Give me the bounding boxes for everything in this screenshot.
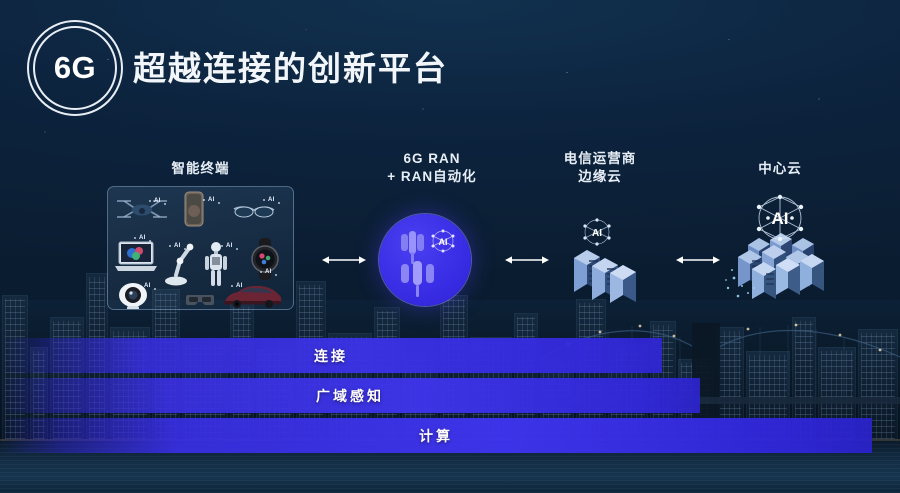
core-ai-badge-text: AI: [772, 209, 789, 228]
device-ar-glasses-icon: [232, 203, 276, 226]
page-title: 超越连接的创新平台: [133, 42, 448, 90]
column-label-core: 中心云: [710, 160, 850, 178]
core-cloud-node: AI: [718, 192, 846, 314]
capability-bar-connectivity: 连接: [0, 338, 662, 373]
smart-devices-panel: AI AI AI: [107, 186, 294, 310]
device-ai-tag: AI: [265, 269, 272, 275]
ran-node-circle: AI: [379, 214, 471, 306]
logo-text: 6G: [27, 20, 123, 116]
brand-logo: 6G: [27, 20, 123, 116]
device-ai-tag: AI: [268, 197, 275, 203]
column-label-ran-line1: 6G RAN: [352, 150, 512, 168]
device-smartwatch-icon: [248, 237, 282, 286]
capability-bar-label: 连接: [314, 346, 348, 366]
column-label-ran-line2: + RAN自动化: [352, 168, 512, 186]
device-smartphone-icon: [184, 191, 204, 232]
column-label-edge-line1: 电信运营商: [525, 150, 675, 168]
device-ai-tag: AI: [154, 198, 161, 204]
connector-edge-to-core: [676, 254, 720, 266]
edge-cloud-node: AI: [558, 216, 656, 308]
capability-bar-computing: 计算: [0, 418, 872, 453]
edge-ai-badge-text: AI: [592, 228, 602, 239]
column-label-devices: 智能终端: [118, 160, 283, 178]
slide-canvas: 6G 超越连接的创新平台 智能终端 6G RAN + RAN自动化 电信运营商 …: [0, 0, 900, 493]
ran-ai-badge-text: AI: [439, 237, 448, 247]
device-ai-tag: AI: [139, 235, 146, 241]
connector-devices-to-ran: [322, 254, 366, 266]
device-vr-headset-icon: [186, 291, 214, 310]
device-ai-tag: AI: [226, 243, 233, 249]
device-car-icon: [222, 283, 284, 310]
column-label-edge-line2: 边缘云: [525, 168, 675, 186]
device-laptop-icon: [114, 241, 158, 278]
connector-ran-to-edge: [505, 254, 549, 266]
column-label-ran: 6G RAN + RAN自动化: [352, 150, 512, 186]
device-ai-tag: AI: [174, 243, 181, 249]
column-label-edge: 电信运营商 边缘云: [525, 150, 675, 186]
capability-bar-label: 计算: [419, 426, 453, 446]
capability-bar-wide-area-sensing: 广域感知: [0, 378, 700, 413]
device-ai-tag: AI: [144, 283, 151, 289]
device-ai-tag: AI: [208, 197, 215, 203]
capability-bar-label: 广域感知: [316, 386, 384, 406]
device-robotic-arm-icon: [164, 243, 198, 292]
